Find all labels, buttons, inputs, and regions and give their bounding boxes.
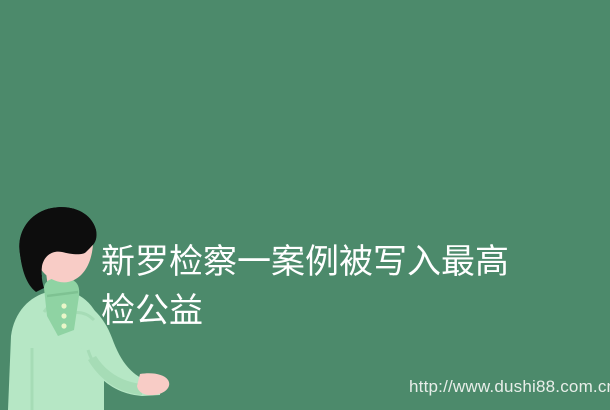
watermark-url: http://www.dushi88.com.cn (409, 377, 610, 397)
headline-line-1: 新罗检察一案例被写入最高检公益 (101, 238, 521, 336)
article-cover-image: 新罗检察一案例被写入最高检公益 诉讼检察工作白皮书（2024） http://w… (0, 0, 610, 410)
page-title: 新罗检察一案例被写入最高检公益 诉讼检察工作白皮书（2024） (101, 140, 521, 410)
